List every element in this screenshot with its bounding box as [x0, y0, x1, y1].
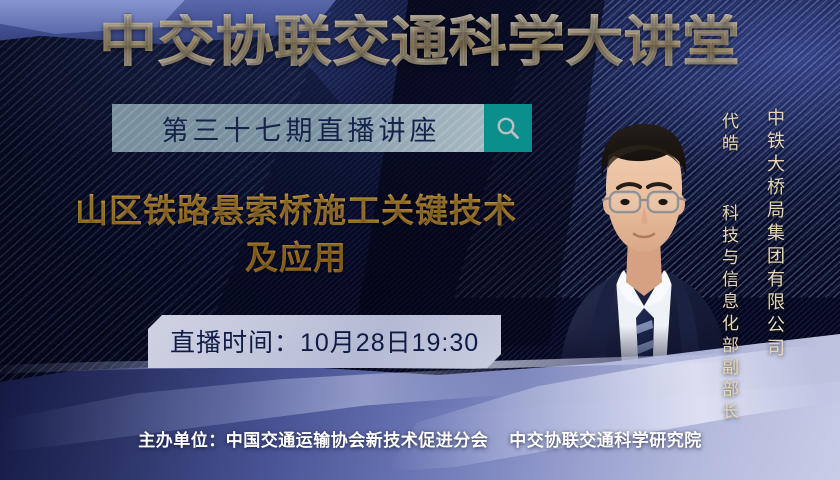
- page-title: 中交协联交通科学大讲堂: [0, 14, 840, 71]
- speaker-name-title: 代皓 科技与信息化部副部长: [716, 112, 741, 424]
- lecture-topic-line-1: 山区铁路悬索桥施工关键技术: [26, 188, 566, 235]
- episode-label: 第三十七期直播讲座: [156, 109, 441, 148]
- broadcast-time-badge: 直播时间：10月28日19:30: [148, 315, 501, 368]
- lecture-topic: 山区铁路悬索桥施工关键技术 及应用: [26, 188, 566, 282]
- organizer-footer: 主办单位：中国交通运输协会新技术促进分会 中交协联交通科学研究院: [0, 426, 840, 451]
- webinar-poster: 中交协联交通科学大讲堂 第三十七期直播讲座 山区铁路悬索桥施工关键技术 及应用 …: [0, 0, 840, 480]
- speaker-organization: 中铁大桥局集团有限公司: [762, 108, 788, 361]
- lecture-topic-line-2: 及应用: [26, 235, 566, 282]
- search-button[interactable]: [484, 104, 532, 152]
- episode-banner: 第三十七期直播讲座: [112, 104, 532, 152]
- episode-banner-fill: 第三十七期直播讲座: [112, 104, 484, 152]
- search-icon: [495, 115, 521, 141]
